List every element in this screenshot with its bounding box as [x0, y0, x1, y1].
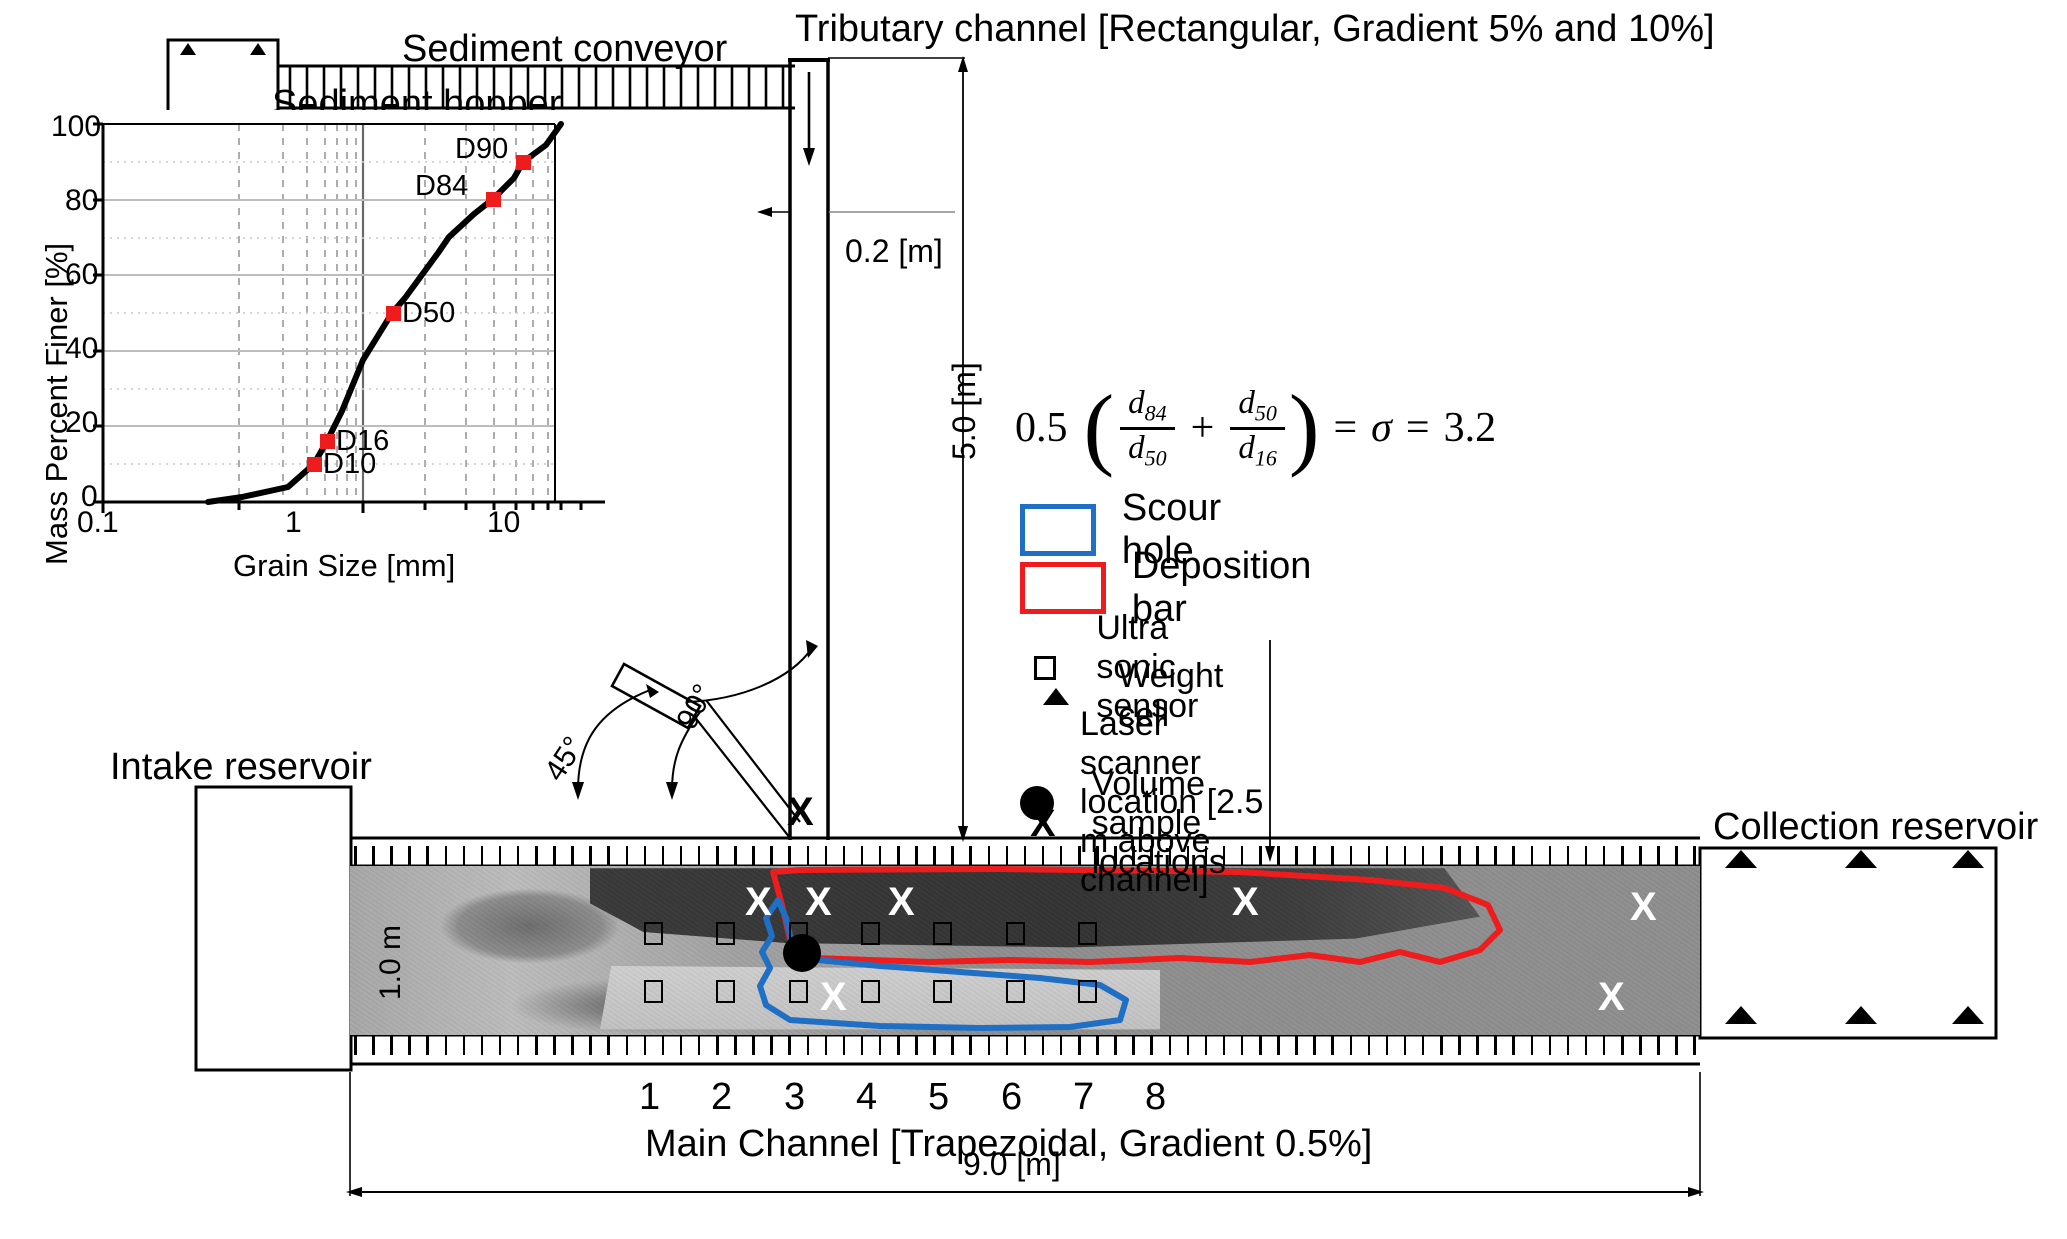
ultra-sonic-sensor-icon — [716, 922, 735, 945]
volume-sample-mark: X — [745, 880, 772, 925]
equation-numerator-2: d50 — [1230, 385, 1285, 427]
equation-paren-open: ( — [1084, 391, 1115, 465]
volume-sample-mark: X — [820, 975, 847, 1020]
equation-equals-2: = — [1406, 404, 1430, 452]
station-label: 3 — [784, 1078, 805, 1116]
equation-value: 3.2 — [1444, 404, 1497, 452]
legend-item-volume-sample: X Volume sample locations — [1020, 765, 1274, 882]
ultra-sonic-sensor-icon — [644, 980, 663, 1003]
equation-sigma: σ — [1371, 404, 1392, 452]
equation-paren-close: ) — [1289, 391, 1320, 465]
tributary-channel-title: Tributary channel [Rectangular, Gradient… — [795, 10, 1715, 48]
equation-denominator-1: d50 — [1120, 430, 1175, 472]
ultra-sonic-sensor-icon — [1078, 922, 1097, 945]
ultra-sonic-sensor-icon — [1006, 922, 1025, 945]
d84-marker — [486, 192, 501, 207]
ultra-sonic-sensor-icon — [716, 980, 735, 1003]
station-label: 4 — [856, 1078, 877, 1116]
deposition-bar-swatch-icon — [1020, 562, 1106, 614]
intake-reservoir-label: Intake reservoir — [110, 748, 372, 786]
sediment-conveyor-label: Sediment conveyor — [402, 30, 727, 68]
ultra-sonic-sensor-icon — [1006, 980, 1025, 1003]
dimension-tributary-width: 0.2 [m] — [845, 235, 943, 267]
volume-sample-mark: X — [805, 880, 832, 925]
volume-sample-mark: X — [1630, 885, 1657, 930]
ultra-sonic-sensor-icon — [1078, 980, 1097, 1003]
volume-sample-mark: X — [888, 880, 915, 925]
dimension-tributary-length: 5.0 [m] — [948, 362, 980, 460]
equation-coefficient: 0.5 — [1015, 404, 1068, 452]
d50-label: D50 — [402, 299, 455, 328]
volume-sample-mark: X — [787, 790, 814, 835]
d16-marker — [320, 434, 335, 449]
d10-marker — [307, 457, 322, 472]
station-label: 8 — [1145, 1078, 1166, 1116]
d90-label: D90 — [455, 135, 508, 164]
equation-denominator-2: d16 — [1230, 430, 1285, 472]
ultra-sonic-sensor-icon — [789, 980, 808, 1003]
collection-reservoir-label: Collection reservoir — [1713, 808, 2038, 846]
equation-numerator-1: d84 — [1120, 385, 1175, 427]
laser-scanner-location-icon — [783, 934, 821, 972]
d16-label: D16 — [336, 427, 389, 456]
ultra-sonic-sensor-icon — [861, 980, 880, 1003]
ultra-sonic-sensor-icon — [933, 980, 952, 1003]
d50-marker — [386, 306, 401, 321]
ultra-sonic-sensor-icon — [644, 922, 663, 945]
station-label: 2 — [711, 1078, 732, 1116]
station-label: 1 — [639, 1078, 660, 1116]
d90-marker — [516, 155, 531, 170]
ultra-sonic-sensor-icon — [933, 922, 952, 945]
equation-equals-1: = — [1333, 404, 1357, 452]
chart-plot — [15, 110, 605, 590]
d84-label: D84 — [415, 172, 468, 201]
weight-cell-icon — [1043, 688, 1069, 705]
equation-plus: + — [1191, 404, 1215, 452]
ultra-sonic-sensor-icon — [861, 922, 880, 945]
grain-size-chart: Mass Percent Finer [%] Grain Size [mm] 1… — [15, 110, 605, 590]
station-label: 6 — [1001, 1078, 1022, 1116]
station-label: 7 — [1073, 1078, 1094, 1116]
sigma-equation: 0.5 ( d84 d50 + d50 d16 ) = σ = 3.2 — [1015, 385, 1496, 471]
station-label: 5 — [928, 1078, 949, 1116]
dimension-channel-width: 1.0 m — [376, 925, 406, 1000]
x-mark-icon: X — [1030, 805, 1055, 843]
legend-label: Volume sample locations — [1092, 765, 1275, 882]
volume-sample-mark: X — [1598, 975, 1625, 1020]
dimension-channel-length: 9.0 [m] — [963, 1148, 1061, 1180]
